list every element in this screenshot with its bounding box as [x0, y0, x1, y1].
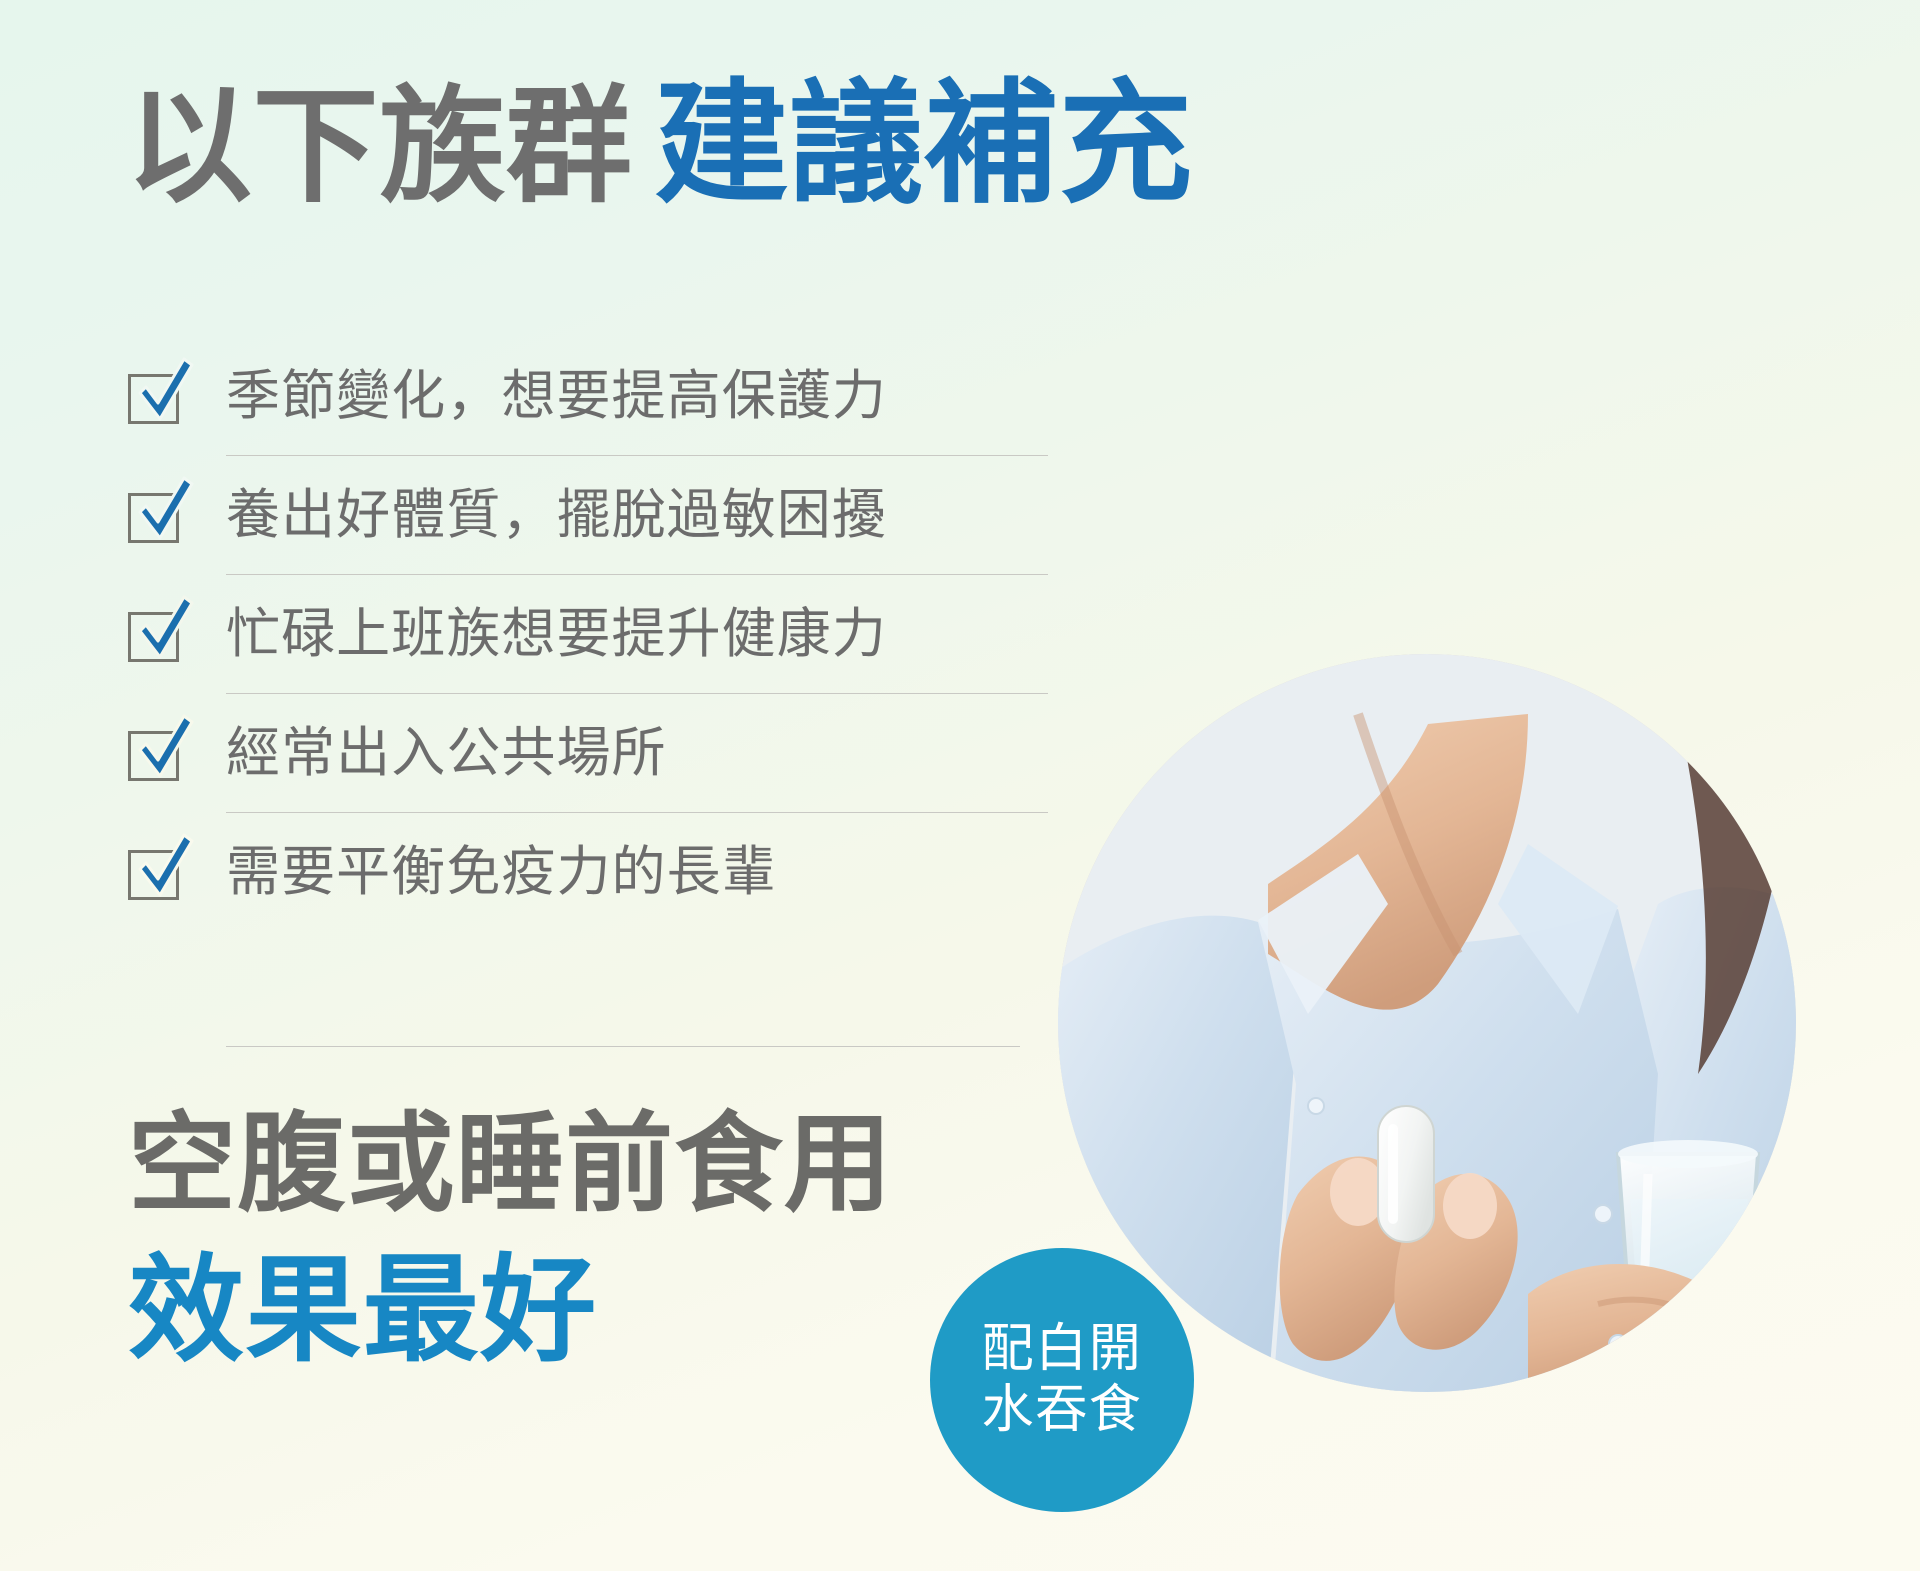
promo-poster: 以下族群建議補充 季節變化，想要提高保護力 養出好體質，擺脫過敏困擾	[0, 0, 1920, 1571]
list-item: 忙碌上班族想要提升健康力	[128, 574, 1048, 693]
list-item: 養出好體質，擺脫過敏困擾	[128, 455, 1048, 574]
recommendation-checklist: 季節變化，想要提高保護力 養出好體質，擺脫過敏困擾 忙碌上班族想要提升健康力	[128, 336, 1048, 931]
list-item-label: 忙碌上班族想要提升健康力	[226, 607, 887, 661]
checkbox-checked-icon	[128, 724, 182, 782]
badge-line-1: 配白開	[982, 1319, 1143, 1380]
checkbox-checked-icon	[128, 367, 182, 425]
badge-line-2: 水吞食	[982, 1380, 1143, 1441]
list-item: 需要平衡免疫力的長輩	[128, 812, 1048, 931]
product-usage-photo	[1058, 654, 1796, 1392]
tagline-line-2: 效果最好	[128, 1252, 598, 1368]
checkbox-checked-icon	[128, 486, 182, 544]
page-title-gray-part: 以下族群	[126, 76, 633, 217]
checkbox-checked-icon	[128, 605, 182, 663]
checkbox-checked-icon	[128, 843, 182, 901]
page-title-blue-part: 建議補充	[655, 70, 1194, 219]
list-item-label: 養出好體質，擺脫過敏困擾	[226, 488, 887, 542]
status-badge: 配白開 水吞食	[930, 1248, 1194, 1512]
list-item-label: 季節變化，想要提高保護力	[226, 369, 887, 423]
tagline-line-1: 空腹或睡前食用	[128, 1110, 893, 1218]
list-item: 經常出入公共場所	[128, 693, 1048, 812]
page-title: 以下族群建議補充	[126, 78, 1193, 212]
list-item-label: 經常出入公共場所	[226, 726, 667, 780]
list-item-label: 需要平衡免疫力的長輩	[226, 845, 777, 899]
divider	[226, 1046, 1020, 1047]
list-item: 季節變化，想要提高保護力	[128, 336, 1048, 455]
